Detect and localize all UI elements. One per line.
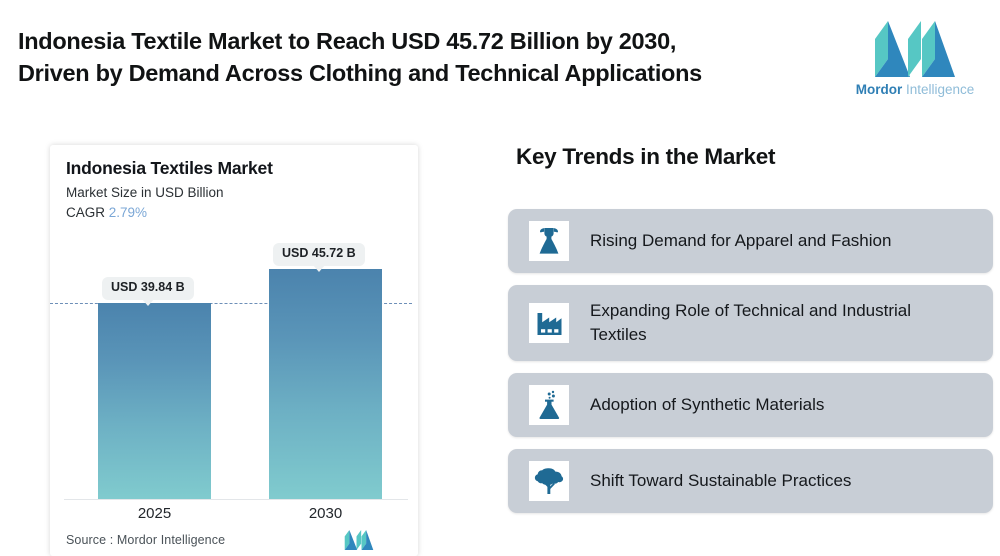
bar-2030 — [269, 269, 382, 499]
factory-icon — [529, 303, 569, 343]
bar-value-label-2030: USD 45.72 B — [273, 243, 365, 266]
x-axis-line — [64, 499, 408, 500]
cagr-label: CAGR — [66, 205, 105, 220]
infographic-page: Indonesia Textile Market to Reach USD 45… — [0, 0, 1000, 556]
logo-wordmark: Mordor Intelligence — [851, 82, 979, 97]
flask-icon — [529, 385, 569, 425]
chart-cagr: CAGR 2.79% — [66, 205, 147, 220]
tree-icon-glyph — [534, 467, 564, 495]
logo-word-intelligence: Intelligence — [902, 82, 974, 97]
key-trend-label: Shift Toward Sustainable Practices — [590, 469, 851, 493]
key-trend-label: Expanding Role of Technical and Industri… — [590, 299, 970, 347]
chart-subtitle: Market Size in USD Billion — [66, 185, 224, 200]
logo-word-mordor: Mordor — [856, 82, 903, 97]
key-trend-label: Rising Demand for Apparel and Fashion — [590, 229, 891, 253]
dress-icon — [529, 221, 569, 261]
cagr-value: 2.79% — [109, 205, 147, 220]
flask-icon-glyph — [537, 390, 561, 420]
key-trend-label: Adoption of Synthetic Materials — [590, 393, 824, 417]
chart-card: Indonesia Textiles Market Market Size in… — [50, 145, 418, 556]
mordor-intelligence-logo-icon — [875, 21, 955, 77]
key-trend-card-technical[interactable]: Expanding Role of Technical and Industri… — [508, 285, 993, 361]
headline-line-1: Indonesia Textile Market to Reach USD 45… — [18, 26, 818, 58]
tree-icon — [529, 461, 569, 501]
bar-2025 — [98, 303, 211, 499]
key-trends-title: Key Trends in the Market — [516, 144, 775, 170]
key-trend-card-apparel[interactable]: Rising Demand for Apparel and Fashion — [508, 209, 993, 273]
chart-title: Indonesia Textiles Market — [66, 158, 273, 179]
x-tick-2030: 2030 — [269, 505, 382, 522]
x-tick-2025: 2025 — [98, 505, 211, 522]
headline-line-2: Driven by Demand Across Clothing and Tec… — [18, 58, 818, 90]
dress-icon-glyph — [536, 227, 562, 255]
source-logo-icon — [343, 530, 375, 550]
key-trend-card-sustainable[interactable]: Shift Toward Sustainable Practices — [508, 449, 993, 513]
bar-value-label-2025: USD 39.84 B — [102, 277, 194, 300]
chart-source: Source : Mordor Intelligence — [66, 533, 225, 547]
brand-logo: Mordor Intelligence — [851, 4, 979, 121]
page-title: Indonesia Textile Market to Reach USD 45… — [18, 26, 818, 90]
key-trend-card-synthetic[interactable]: Adoption of Synthetic Materials — [508, 373, 993, 437]
factory-icon-glyph — [536, 311, 563, 336]
key-trends-list: Rising Demand for Apparel and Fashion Ex… — [508, 209, 993, 525]
